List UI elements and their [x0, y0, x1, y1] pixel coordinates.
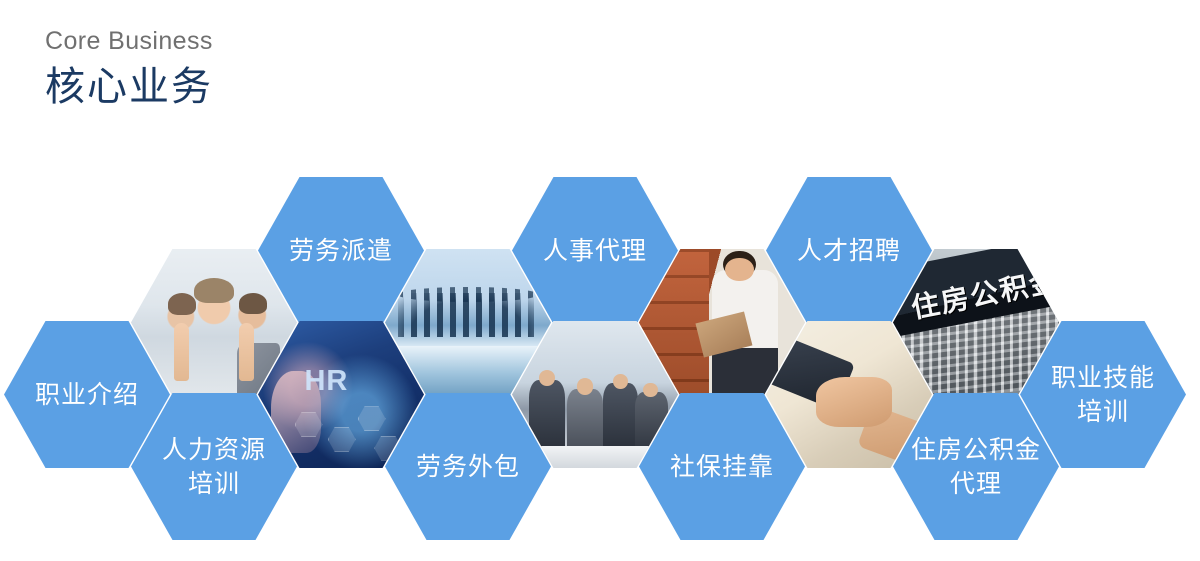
- core-business-banner: Core Business 核心业务 职业介绍人力资源 培训劳务派遣HR劳务外包…: [0, 0, 1200, 561]
- hex-label-text: 人事代理: [533, 234, 657, 268]
- hex-label-text: 劳务派遣: [279, 234, 403, 268]
- hex-label-text: 职业技能 培训: [1041, 361, 1165, 429]
- hex-label-text: 职业介绍: [25, 378, 149, 412]
- hr-overlay-text: HR: [304, 365, 348, 398]
- hex-label-text: 社保挂靠: [660, 450, 784, 484]
- hex-label-text: 人才招聘: [787, 234, 911, 268]
- hexagon-honeycomb: 职业介绍人力资源 培训劳务派遣HR劳务外包人事代理社保挂靠人才招聘住房公积金住房…: [0, 0, 1200, 561]
- hex-label-text: 住房公积金 代理: [901, 433, 1051, 501]
- hex-label-text: 人力资源 培训: [152, 433, 276, 501]
- hex-label-text: 劳务外包: [406, 450, 530, 484]
